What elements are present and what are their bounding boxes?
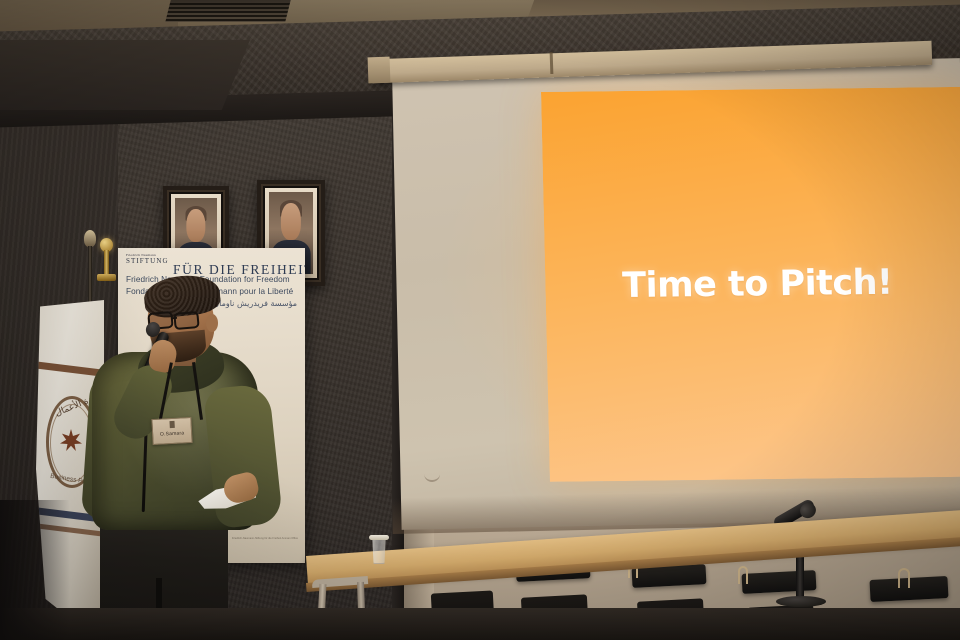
floor — [0, 608, 960, 640]
projected-slide: Time to Pitch! — [541, 87, 960, 482]
desk-microphone-base — [776, 596, 826, 607]
disposable-cup-lid — [369, 535, 389, 540]
eyeglasses-icon — [173, 311, 199, 330]
foreground-shadow-left — [0, 500, 70, 640]
projector-screen-valance-cap — [368, 57, 391, 84]
disposable-cup — [371, 538, 387, 564]
photo-scene: Time to Pitch! Friedrich Naumann — [0, 0, 960, 640]
chair-arm — [738, 566, 748, 584]
chair-backrest — [742, 570, 817, 594]
name-badge: O.Samara — [151, 417, 192, 445]
chair-arm — [898, 568, 910, 588]
speaker-person: O.Samara — [86, 278, 316, 640]
name-badge-clip — [169, 421, 174, 428]
projector-screen-crease — [424, 462, 440, 482]
eyeglasses-bridge — [172, 317, 177, 320]
flag-pole-finial-icon — [84, 230, 96, 247]
gold-post — [104, 250, 109, 276]
portrait-face — [281, 203, 301, 239]
speaker-ear — [206, 314, 218, 332]
ceiling-air-vent — [165, 0, 290, 22]
slide-title: Time to Pitch! — [545, 262, 960, 307]
name-badge-text: O.Samara — [153, 430, 191, 438]
portrait-face — [186, 209, 205, 242]
ceiling-beam-drop — [0, 40, 250, 110]
